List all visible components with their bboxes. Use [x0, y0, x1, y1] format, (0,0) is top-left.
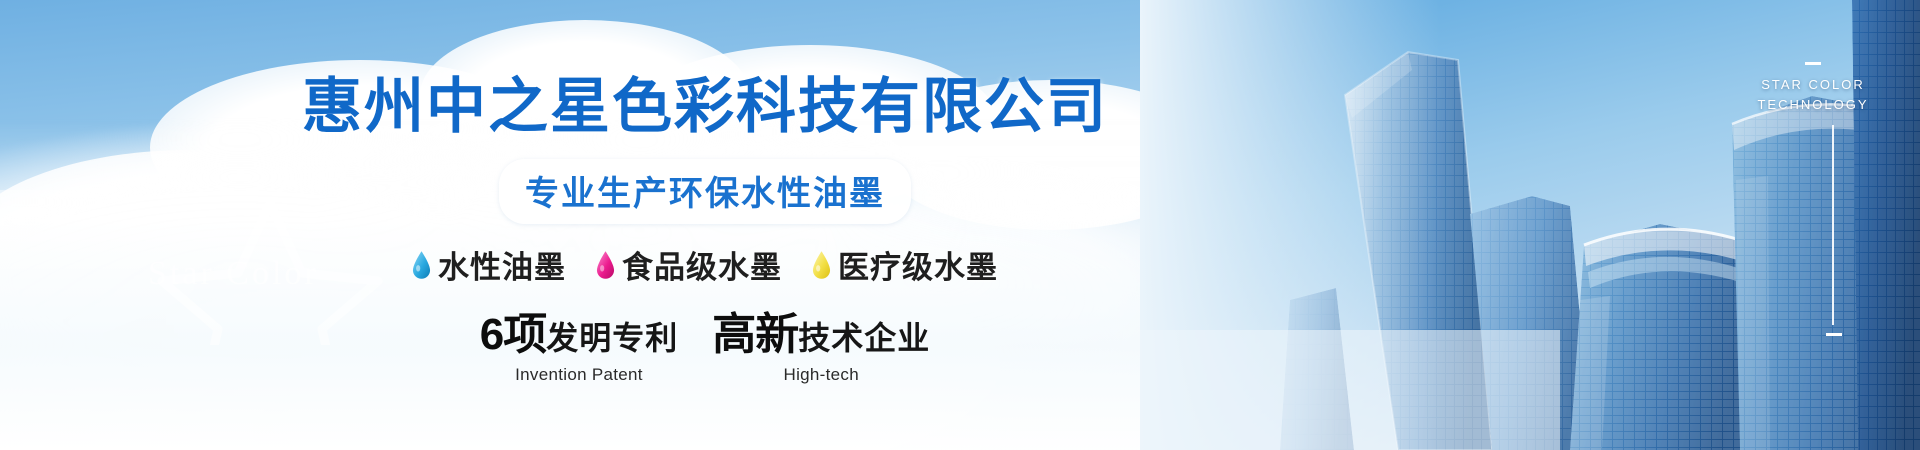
badge-item: 高新技术企业 High-tech — [712, 313, 930, 385]
badge-rest-text: 技术企业 — [798, 320, 930, 356]
badge-chinese: 6项发明专利 — [480, 313, 679, 357]
company-title: 惠州中之星色彩科技有限公司 — [302, 58, 1108, 145]
badge-chinese: 高新技术企业 — [712, 313, 930, 357]
water-drop-icon — [596, 251, 615, 279]
feature-label: 水性油墨 — [438, 242, 566, 287]
badge-item: 6项发明专利 Invention Patent — [480, 313, 679, 385]
badge-strong-text: 6项 — [480, 310, 546, 359]
corner-mark-line1: STAR COLOR — [1748, 75, 1878, 95]
dash-decoration — [1826, 333, 1842, 336]
feature-item: 水性油墨 — [412, 242, 566, 287]
feature-list: 水性油墨 食品级水墨 — [412, 242, 998, 287]
water-drop-icon — [812, 251, 831, 279]
banner-content: 惠州中之星色彩科技有限公司 专业生产环保水性油墨 水性油 — [0, 0, 1410, 450]
badge-rest-text: 发明专利 — [546, 320, 678, 356]
vertical-rule-decoration — [1832, 125, 1834, 325]
subtitle-pill: 专业生产环保水性油墨 — [499, 159, 911, 224]
badge-english: High-tech — [712, 365, 930, 385]
feature-item: 食品级水墨 — [596, 242, 782, 287]
badge-strong-text: 高新 — [712, 310, 798, 359]
feature-label: 食品级水墨 — [622, 242, 782, 287]
water-drop-icon — [412, 251, 431, 279]
feature-item: 医疗级水墨 — [812, 242, 998, 287]
corner-brand-mark: STAR COLOR TECHNOLOGY — [1748, 62, 1878, 114]
badge-english: Invention Patent — [480, 365, 679, 385]
dash-decoration — [1805, 62, 1821, 65]
subtitle-text: 专业生产环保水性油墨 — [525, 175, 885, 213]
corner-mark-line2: TECHNOLOGY — [1748, 95, 1878, 115]
feature-label: 医疗级水墨 — [838, 242, 998, 287]
credential-badges: 6项发明专利 Invention Patent 高新技术企业 High-tech — [480, 313, 931, 385]
promo-banner: Star Color — [0, 0, 1920, 450]
